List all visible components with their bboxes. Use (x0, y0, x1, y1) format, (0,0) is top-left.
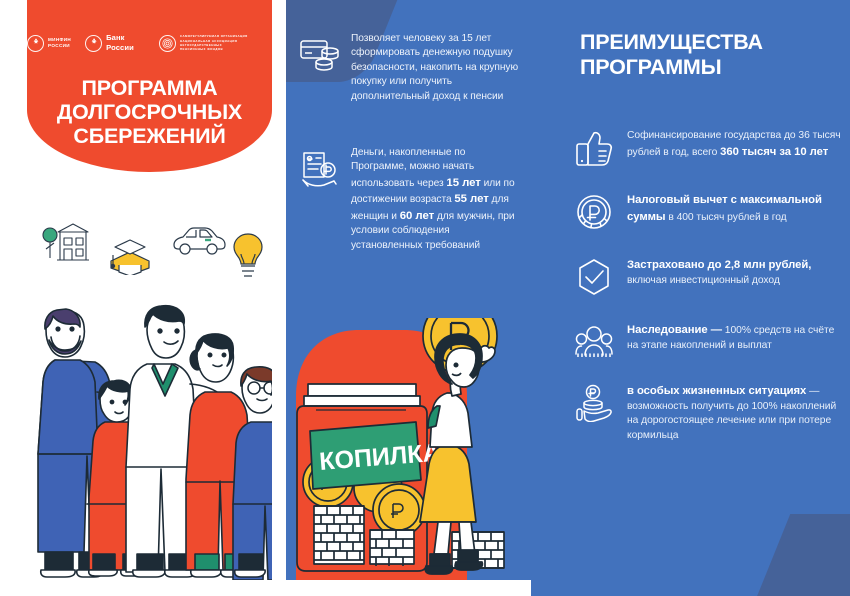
thumbs-up-icon (575, 128, 613, 171)
npf-association-logo: Саморегулируемая организация Национальна… (159, 34, 272, 51)
benefit-cofinancing: Софинансирование государства до 36 тысяч… (575, 128, 845, 171)
family-group-icon (575, 321, 613, 362)
minfin-logo: Минфин России (27, 35, 71, 52)
decorative-shape (738, 514, 850, 596)
info-block-savings-text: Позволяет человеку за 15 лет сформироват… (351, 32, 520, 104)
card-and-coins-icon (300, 32, 340, 77)
check-hexagon-icon (575, 256, 613, 301)
benefit-insured: Застраховано до 2,8 млн рублей, включая … (575, 256, 845, 301)
benefit-special-situations-text: в особых жизненных ситуациях — возможнос… (627, 382, 845, 443)
double-eagle-seal-icon (85, 35, 102, 52)
page-title: ПРОГРАММА ДОЛГОСРОЧНЫХ СБЕРЕЖЕНИЙ (27, 76, 272, 148)
circular-seal-icon (159, 35, 176, 52)
hand-with-coins-icon (575, 382, 613, 427)
bank-rossii-logo-label: Банк России (106, 33, 145, 53)
minfin-logo-label: Минфин России (48, 37, 71, 49)
benefit-cofinancing-text: Софинансирование государства до 36 тысяч… (627, 128, 845, 160)
benefits-list: Софинансирование государства до 36 тысяч… (575, 128, 845, 463)
benefit-insured-text: Застраховано до 2,8 млн рублей, включая … (627, 256, 845, 288)
benefits-title: ПРЕИМУЩЕСТВА ПРОГРАММЫ (580, 30, 830, 80)
bank-rossii-logo: Банк России (85, 33, 145, 53)
double-eagle-seal-icon (27, 35, 44, 52)
infographic-page: Минфин России Банк России (0, 0, 850, 596)
info-block-savings: Позволяет человеку за 15 лет сформироват… (300, 32, 520, 104)
benefit-inheritance: Наследование — 100% средств на счёте на … (575, 321, 845, 362)
logo-row: Минфин России Банк России (27, 30, 272, 56)
document-with-ruble-icon (300, 146, 340, 195)
benefit-tax-deduction: Налоговый вычет с максимальной суммы в 4… (575, 191, 845, 236)
benefit-special-situations: в особых жизненных ситуациях — возможнос… (575, 382, 845, 443)
middle-panel: Позволяет человеку за 15 лет сформироват… (286, 0, 531, 580)
right-panel: ПРЕИМУЩЕСТВА ПРОГРАММЫ Софинансирование … (531, 0, 850, 596)
family-group-illustration (27, 252, 272, 580)
npf-association-logo-label: Саморегулируемая организация Национальна… (180, 34, 272, 51)
info-block-terms: Деньги, накопленные по Программе, можно … (300, 146, 520, 253)
benefit-inheritance-text: Наследование — 100% средств на счёте на … (627, 321, 845, 353)
benefit-tax-deduction-text: Налоговый вычет с максимальной суммы в 4… (627, 191, 845, 225)
piggy-jar-illustration: КОПИЛКА (286, 318, 531, 580)
left-panel: Минфин России Банк России (27, 0, 272, 580)
ruble-coin-icon (575, 191, 613, 236)
info-block-terms-text: Деньги, накопленные по Программе, можно … (351, 146, 520, 253)
